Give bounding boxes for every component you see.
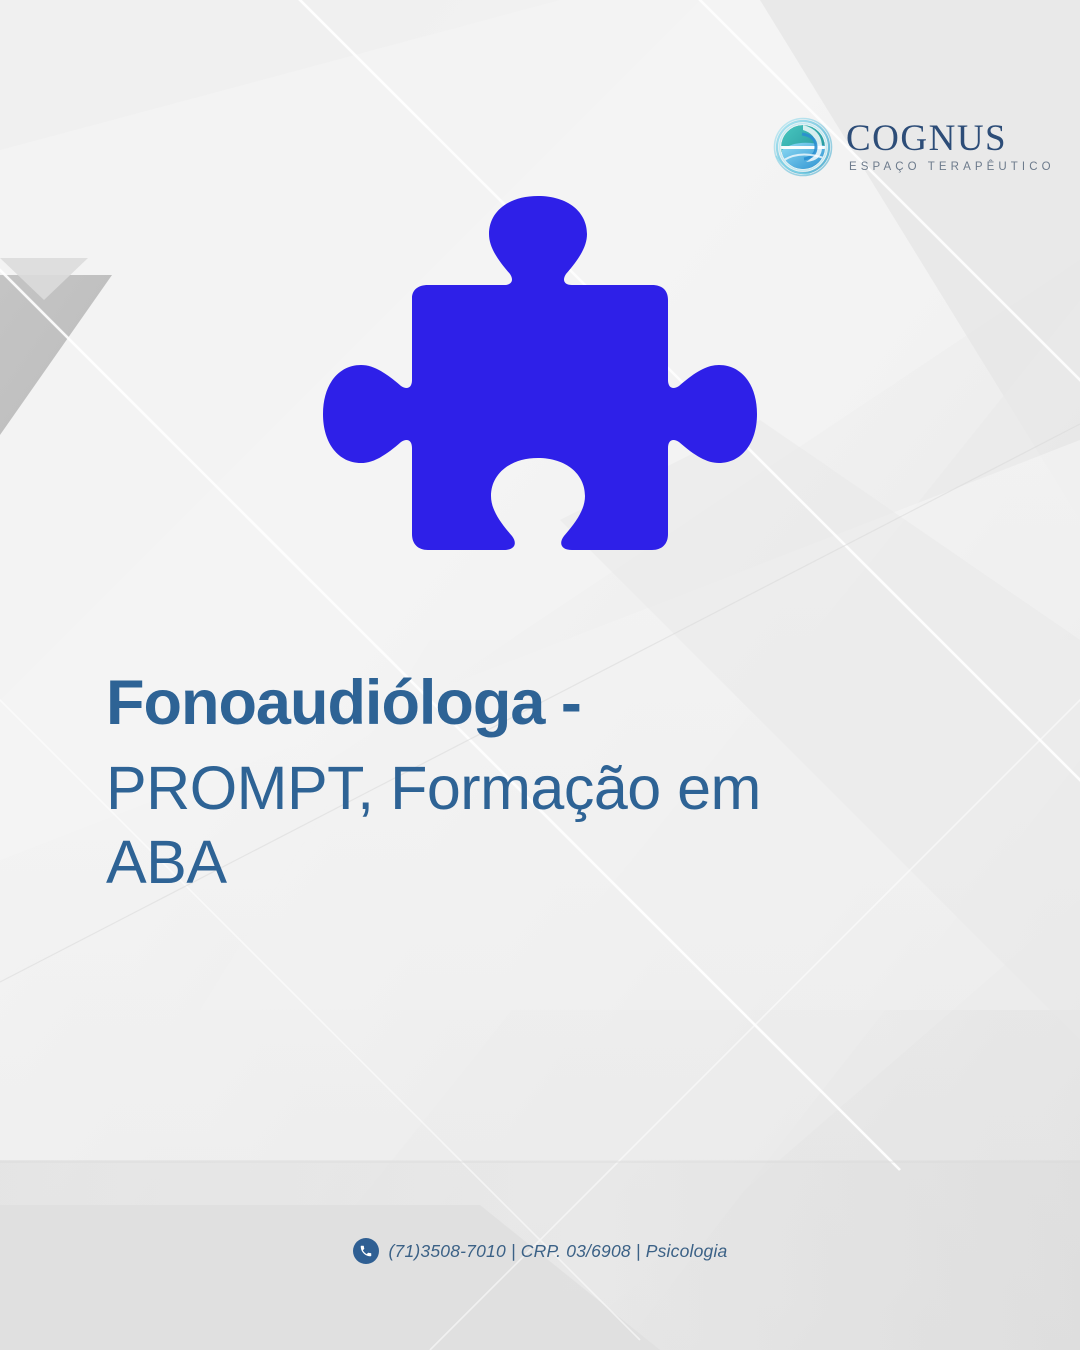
cognus-swirl-circle-icon xyxy=(772,116,834,178)
contact-text: (71)3508-7010 | CRP. 03/6908 | Psicologi… xyxy=(389,1241,728,1262)
contact-footer: (71)3508-7010 | CRP. 03/6908 | Psicologi… xyxy=(0,1238,1080,1264)
brand-name: COGNUS xyxy=(846,120,1055,157)
brand-tagline: ESPAÇO TERAPÊUTICO xyxy=(846,162,1055,174)
brand-logo: COGNUS ESPAÇO TERAPÊUTICO xyxy=(772,116,1055,178)
brand-wordmark: COGNUS ESPAÇO TERAPÊUTICO xyxy=(846,120,1055,174)
phone-icon xyxy=(353,1238,379,1264)
headline-line-1: Fonoaudióloga - xyxy=(106,672,866,735)
puzzle-piece-icon xyxy=(300,190,780,610)
page-title: Fonoaudióloga - PROMPT, Formação em ABA xyxy=(106,672,866,900)
headline-line-2: PROMPT, Formação em ABA xyxy=(106,751,866,900)
poster-canvas: COGNUS ESPAÇO TERAPÊUTICO Fonoaudióloga … xyxy=(0,0,1080,1350)
